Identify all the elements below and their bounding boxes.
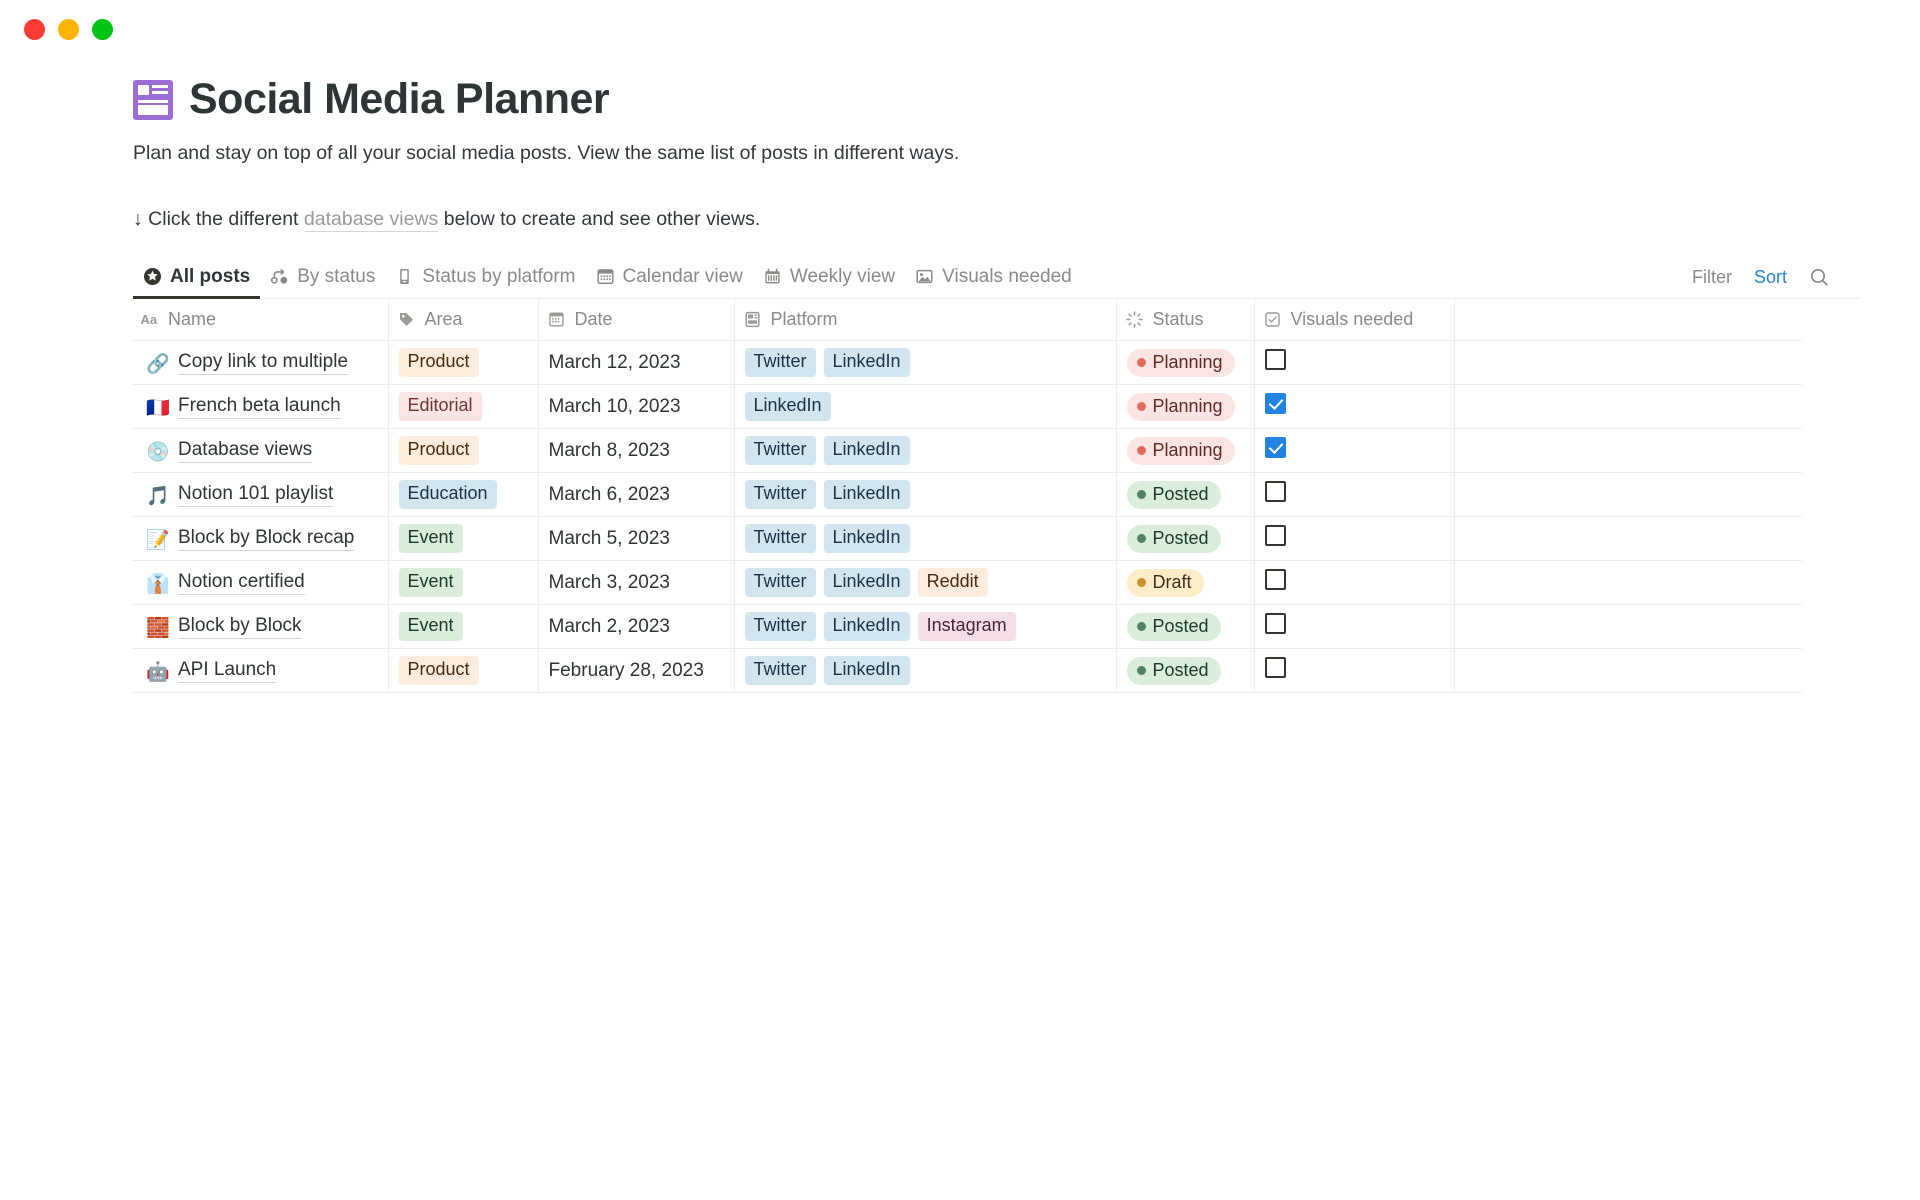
page-content: Social Media Planner Plan and stay on to… <box>0 76 1920 693</box>
cell-name[interactable]: 📝Block by Block recap <box>132 517 388 561</box>
window-close-button[interactable] <box>24 19 45 40</box>
status-dot-icon <box>1137 578 1146 587</box>
cell-date[interactable]: March 3, 2023 <box>538 561 734 605</box>
window-maximize-button[interactable] <box>92 19 113 40</box>
cell-visuals-needed[interactable] <box>1254 473 1454 517</box>
platform-tag: LinkedIn <box>824 480 910 509</box>
column-header-label: Platform <box>771 309 838 330</box>
database-table: Aa Name Area <box>132 299 1802 694</box>
visuals-needed-checkbox[interactable] <box>1265 569 1286 590</box>
visuals-needed-checkbox[interactable] <box>1265 481 1286 502</box>
visuals-needed-checkbox[interactable] <box>1265 613 1286 634</box>
row-title[interactable]: Database views <box>178 439 312 463</box>
table-header-row: Aa Name Area <box>132 299 1802 341</box>
status-dot-icon <box>1137 358 1146 367</box>
column-header-visuals-needed[interactable]: Visuals needed <box>1254 299 1454 341</box>
visuals-needed-checkbox[interactable] <box>1265 525 1286 546</box>
status-badge: Planning <box>1127 393 1235 421</box>
cell-status[interactable]: Posted <box>1116 517 1254 561</box>
cell-status[interactable]: Planning <box>1116 429 1254 473</box>
robot-emoji: 🤖 <box>146 660 168 682</box>
column-header-label: Area <box>425 309 463 330</box>
sort-button[interactable]: Sort <box>1754 267 1787 288</box>
cell-blank[interactable] <box>1454 385 1802 429</box>
status-label: Posted <box>1153 616 1209 637</box>
area-tag: Event <box>399 568 463 597</box>
cell-name[interactable]: 🎵Notion 101 playlist <box>132 473 388 517</box>
cell-status[interactable]: Planning <box>1116 385 1254 429</box>
cell-area[interactable]: Product <box>388 341 538 385</box>
memo-emoji: 📝 <box>146 528 168 550</box>
platform-tag: Reddit <box>918 568 988 597</box>
column-header-area[interactable]: Area <box>388 299 538 341</box>
cell-blank[interactable] <box>1454 517 1802 561</box>
page-subtitle: Plan and stay on top of all your social … <box>133 139 1860 168</box>
cell-visuals-needed[interactable] <box>1254 605 1454 649</box>
tab-label: Visuals needed <box>942 266 1072 288</box>
optical-disc-emoji: 💿 <box>146 440 168 462</box>
table-row[interactable]: 🎵Notion 101 playlistEducationMarch 6, 20… <box>132 473 1802 517</box>
visuals-needed-checkbox[interactable] <box>1265 657 1286 678</box>
column-header-label: Name <box>168 309 216 330</box>
table-row[interactable]: 🇫🇷French beta launchEditorialMarch 10, 2… <box>132 385 1802 429</box>
cell-date[interactable]: March 8, 2023 <box>538 429 734 473</box>
column-header-date[interactable]: Date <box>538 299 734 341</box>
cell-blank[interactable] <box>1454 561 1802 605</box>
multiselect-icon <box>743 310 762 329</box>
cell-status[interactable]: Planning <box>1116 341 1254 385</box>
cell-date[interactable]: March 2, 2023 <box>538 605 734 649</box>
row-title[interactable]: API Launch <box>178 659 276 683</box>
group-by-icon <box>270 267 289 286</box>
view-tabs: All posts By status Status by platform <box>133 262 1082 298</box>
status-label: Posted <box>1153 484 1209 505</box>
cell-name[interactable]: 🔗Copy link to multiple <box>132 341 388 385</box>
cell-name[interactable]: 👔Notion certified <box>132 561 388 605</box>
cell-platform[interactable]: TwitterLinkedInReddit <box>734 561 1116 605</box>
platform-tag: Twitter <box>745 568 816 597</box>
cell-area[interactable]: Product <box>388 429 538 473</box>
area-tag: Education <box>399 480 497 509</box>
status-badge: Posted <box>1127 525 1221 553</box>
tab-all-posts[interactable]: All posts <box>133 262 260 298</box>
row-title[interactable]: Block by Block recap <box>178 527 354 551</box>
cell-area[interactable]: Editorial <box>388 385 538 429</box>
search-icon[interactable] <box>1809 267 1830 288</box>
timeline-icon <box>763 267 782 286</box>
database-page-icon <box>133 80 173 120</box>
svg-text:Aa: Aa <box>141 312 158 327</box>
table-row[interactable]: 🧱Block by BlockEventMarch 2, 2023Twitter… <box>132 605 1802 649</box>
status-label: Planning <box>1153 440 1223 461</box>
status-label: Posted <box>1153 528 1209 549</box>
tab-visuals-needed[interactable]: Visuals needed <box>905 262 1082 298</box>
cell-date[interactable]: February 28, 2023 <box>538 649 734 693</box>
cell-visuals-needed[interactable] <box>1254 341 1454 385</box>
column-header-status[interactable]: Status <box>1116 299 1254 341</box>
cell-date[interactable]: March 6, 2023 <box>538 473 734 517</box>
tab-label: Weekly view <box>790 266 895 288</box>
cell-blank[interactable] <box>1454 649 1802 693</box>
platform-tag: LinkedIn <box>824 656 910 685</box>
tab-label: Status by platform <box>422 266 575 288</box>
status-dot-icon <box>1137 666 1146 675</box>
platform-tag: Twitter <box>745 612 816 641</box>
cell-blank[interactable] <box>1454 429 1802 473</box>
cell-status[interactable]: Draft <box>1116 561 1254 605</box>
star-badge-icon <box>143 267 162 286</box>
gallery-icon <box>915 267 934 286</box>
area-tag: Product <box>399 436 479 465</box>
column-header-blank[interactable] <box>1454 299 1802 341</box>
status-dot-icon <box>1137 622 1146 631</box>
area-tag: Event <box>399 612 463 641</box>
cell-visuals-needed[interactable] <box>1254 429 1454 473</box>
column-header-platform[interactable]: Platform <box>734 299 1116 341</box>
cell-platform[interactable]: TwitterLinkedIn <box>734 517 1116 561</box>
window-minimize-button[interactable] <box>58 19 79 40</box>
status-badge: Posted <box>1127 481 1221 509</box>
platform-tag: Twitter <box>745 524 816 553</box>
cell-area[interactable]: Event <box>388 561 538 605</box>
table-row[interactable]: 👔Notion certifiedEventMarch 3, 2023Twitt… <box>132 561 1802 605</box>
calendar-icon <box>596 267 615 286</box>
row-title[interactable]: Copy link to multiple <box>178 351 348 375</box>
platform-tag: Twitter <box>745 656 816 685</box>
status-dot-icon <box>1137 446 1146 455</box>
tab-label: Calendar view <box>623 266 743 288</box>
cell-name[interactable]: 🧱Block by Block <box>132 605 388 649</box>
row-title[interactable]: Notion certified <box>178 571 305 595</box>
cell-platform[interactable]: TwitterLinkedInInstagram <box>734 605 1116 649</box>
database-table-wrapper: Aa Name Area <box>133 299 1860 694</box>
cell-platform[interactable]: TwitterLinkedIn <box>734 429 1116 473</box>
cell-status[interactable]: Posted <box>1116 649 1254 693</box>
page-header: Social Media Planner <box>133 76 1860 123</box>
database-views-link[interactable]: database views <box>304 208 438 232</box>
status-label: Draft <box>1153 572 1192 593</box>
row-title[interactable]: French beta launch <box>178 395 341 419</box>
france-flag-emoji: 🇫🇷 <box>146 396 168 418</box>
status-badge: Draft <box>1127 569 1204 597</box>
link-emoji: 🔗 <box>146 352 168 374</box>
platform-tag: Instagram <box>918 612 1016 641</box>
status-badge: Planning <box>1127 437 1235 465</box>
platform-tag: LinkedIn <box>824 524 910 553</box>
cell-name[interactable]: 💿Database views <box>132 429 388 473</box>
filter-button[interactable]: Filter <box>1692 267 1732 288</box>
cell-area[interactable]: Event <box>388 517 538 561</box>
tag-icon <box>397 310 416 329</box>
status-label: Posted <box>1153 660 1209 681</box>
area-tag: Product <box>399 656 479 685</box>
cell-visuals-needed[interactable] <box>1254 517 1454 561</box>
cell-blank[interactable] <box>1454 341 1802 385</box>
row-title[interactable]: Block by Block <box>178 615 302 639</box>
cell-blank[interactable] <box>1454 473 1802 517</box>
tab-calendar-view[interactable]: Calendar view <box>586 262 753 298</box>
cell-status[interactable]: Posted <box>1116 605 1254 649</box>
status-label: Planning <box>1153 396 1223 417</box>
cell-name[interactable]: 🤖API Launch <box>132 649 388 693</box>
cell-area[interactable]: Education <box>388 473 538 517</box>
tab-label: By status <box>297 266 375 288</box>
platform-tag: LinkedIn <box>745 392 831 421</box>
platform-tag: Twitter <box>745 348 816 377</box>
status-badge: Posted <box>1127 613 1221 641</box>
column-header-label: Date <box>575 309 613 330</box>
platform-tag: LinkedIn <box>824 568 910 597</box>
necktie-emoji: 👔 <box>146 572 168 594</box>
column-header-name[interactable]: Aa Name <box>132 299 388 341</box>
cell-visuals-needed[interactable] <box>1254 385 1454 429</box>
cell-visuals-needed[interactable] <box>1254 649 1454 693</box>
view-actions: Filter Sort <box>1692 267 1830 298</box>
status-spinner-icon <box>1125 310 1144 329</box>
column-header-label: Visuals needed <box>1291 309 1414 330</box>
platform-tag: Twitter <box>745 436 816 465</box>
database-view-bar: All posts By status Status by platform <box>133 262 1860 299</box>
platform-tag: Twitter <box>745 480 816 509</box>
cell-date[interactable]: March 5, 2023 <box>538 517 734 561</box>
status-dot-icon <box>1137 402 1146 411</box>
cell-date[interactable]: March 12, 2023 <box>538 341 734 385</box>
window-titlebar <box>0 0 1920 58</box>
cell-platform[interactable]: LinkedIn <box>734 385 1116 429</box>
platform-tag: LinkedIn <box>824 348 910 377</box>
column-header-label: Status <box>1153 309 1204 330</box>
tab-by-status[interactable]: By status <box>260 262 385 298</box>
cell-visuals-needed[interactable] <box>1254 561 1454 605</box>
status-dot-icon <box>1137 490 1146 499</box>
table-row[interactable]: 🔗Copy link to multipleProductMarch 12, 2… <box>132 341 1802 385</box>
cell-status[interactable]: Posted <box>1116 473 1254 517</box>
cell-name[interactable]: 🇫🇷French beta launch <box>132 385 388 429</box>
tab-weekly-view[interactable]: Weekly view <box>753 262 905 298</box>
area-tag: Editorial <box>399 392 482 421</box>
cell-platform[interactable]: TwitterLinkedIn <box>734 649 1116 693</box>
platform-tag: LinkedIn <box>824 612 910 641</box>
row-title[interactable]: Notion 101 playlist <box>178 483 333 507</box>
checkbox-icon <box>1263 310 1282 329</box>
cell-platform[interactable]: TwitterLinkedIn <box>734 341 1116 385</box>
status-badge: Planning <box>1127 349 1235 377</box>
status-label: Planning <box>1153 352 1223 373</box>
area-tag: Event <box>399 524 463 553</box>
hint-suffix: below to create and see other views. <box>438 208 760 230</box>
cell-area[interactable]: Event <box>388 605 538 649</box>
page-hint: ↓ Click the different database views bel… <box>133 205 1860 234</box>
tab-status-by-platform[interactable]: Status by platform <box>385 262 585 298</box>
cell-blank[interactable] <box>1454 605 1802 649</box>
cell-date[interactable]: March 10, 2023 <box>538 385 734 429</box>
area-tag: Product <box>399 348 479 377</box>
table-body: 🔗Copy link to multipleProductMarch 12, 2… <box>132 341 1802 693</box>
tab-label: All posts <box>170 266 250 288</box>
brick-emoji: 🧱 <box>146 616 168 638</box>
table-row[interactable]: 📝Block by Block recapEventMarch 5, 2023T… <box>132 517 1802 561</box>
visuals-needed-checkbox[interactable] <box>1265 393 1286 414</box>
table-row[interactable]: 💿Database viewsProductMarch 8, 2023Twitt… <box>132 429 1802 473</box>
status-dot-icon <box>1137 534 1146 543</box>
calendar-icon <box>547 310 566 329</box>
visuals-needed-checkbox[interactable] <box>1265 437 1286 458</box>
platform-tag: LinkedIn <box>824 436 910 465</box>
visuals-needed-checkbox[interactable] <box>1265 349 1286 370</box>
cell-area[interactable]: Product <box>388 649 538 693</box>
table-row[interactable]: 🤖API LaunchProductFebruary 28, 2023Twitt… <box>132 649 1802 693</box>
page-title: Social Media Planner <box>189 76 609 123</box>
cell-platform[interactable]: TwitterLinkedIn <box>734 473 1116 517</box>
hint-prefix: ↓ Click the different <box>133 208 304 230</box>
text-type-icon: Aa <box>140 310 159 329</box>
music-note-emoji: 🎵 <box>146 484 168 506</box>
status-badge: Posted <box>1127 657 1221 685</box>
board-icon <box>395 267 414 286</box>
